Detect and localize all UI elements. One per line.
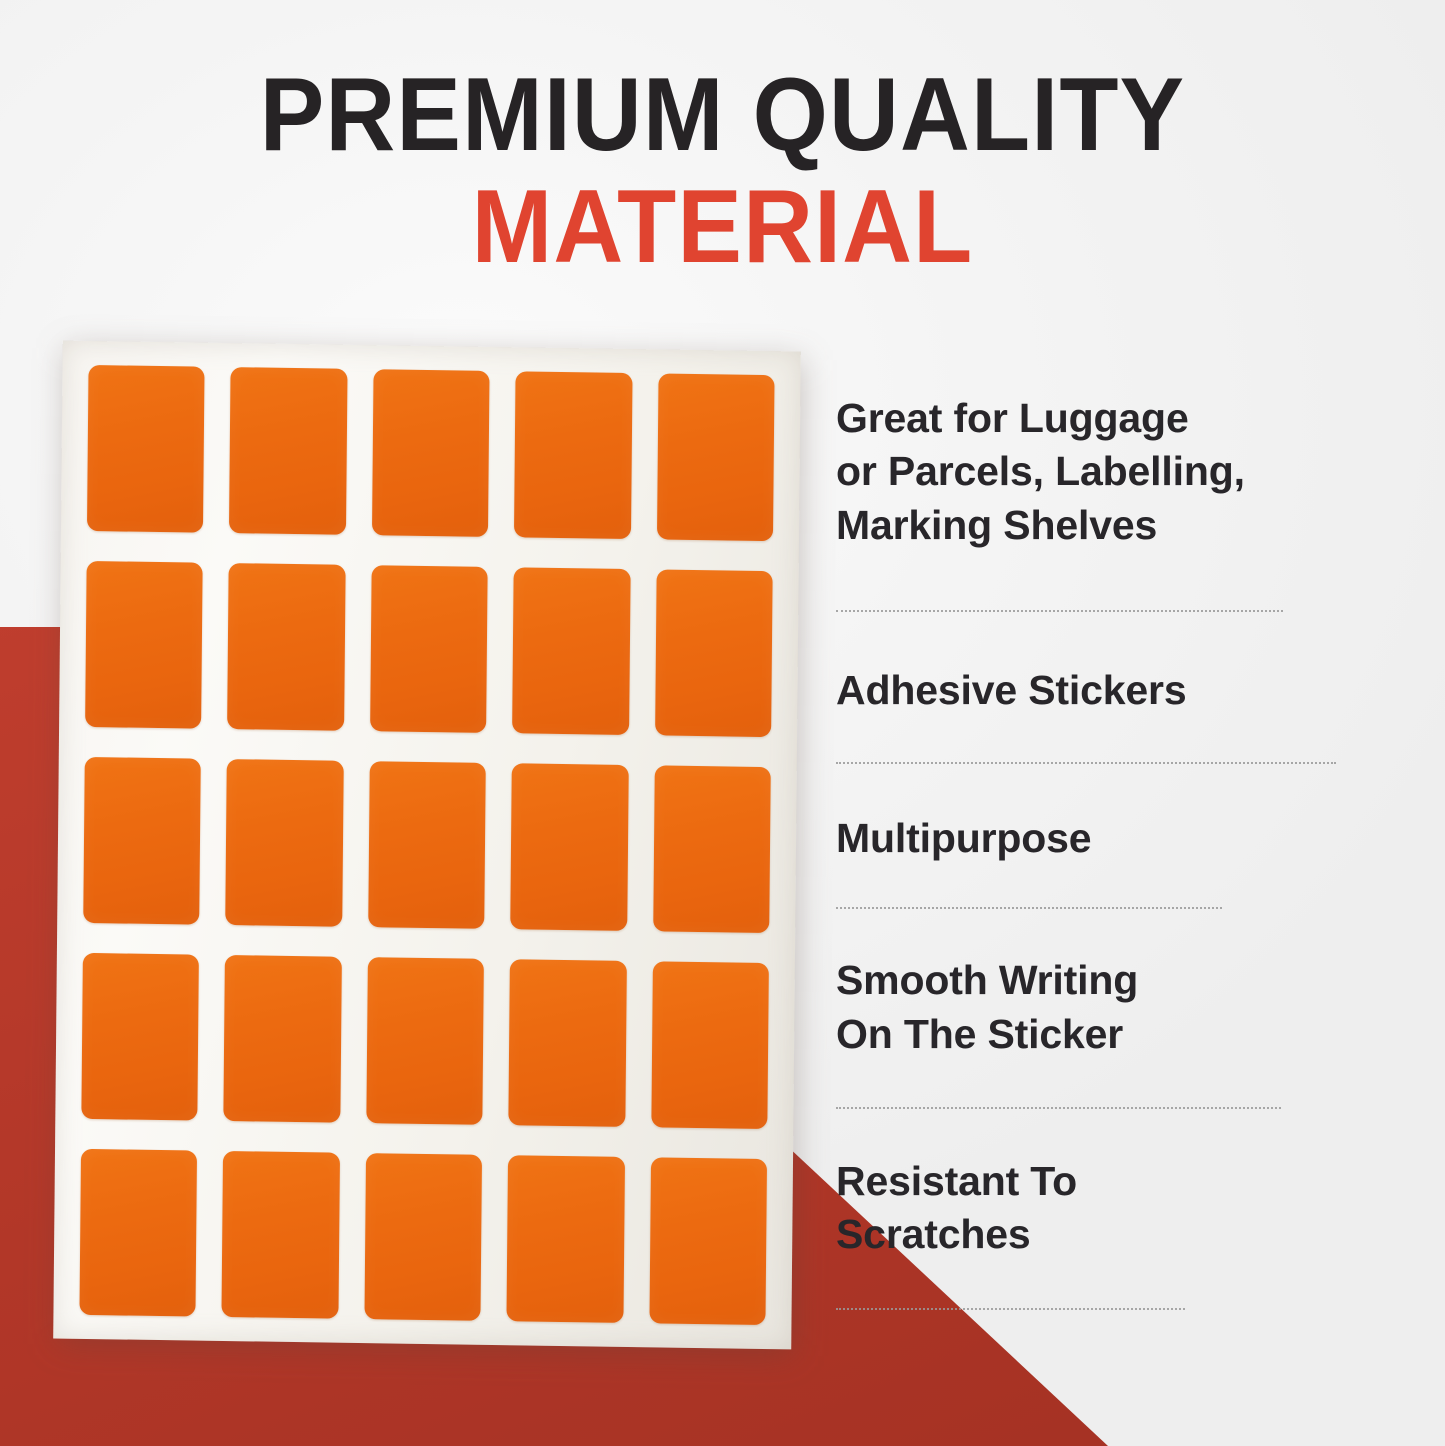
sticker-label	[229, 367, 347, 535]
sticker-label	[364, 1153, 482, 1321]
sticker-grid	[79, 365, 774, 1325]
feature-item: Adhesive Stickers	[836, 664, 1366, 764]
feature-label: Resistant To Scratches	[836, 1155, 1366, 1262]
sticker-label	[507, 1155, 625, 1323]
feature-label: Great for Luggage or Parcels, Labelling,…	[836, 392, 1366, 552]
sticker-label	[85, 561, 203, 729]
sticker-label	[79, 1149, 197, 1317]
sticker-label	[512, 567, 630, 735]
infographic-canvas: PREMIUM QUALITY MATERIAL	[0, 0, 1445, 1446]
feature-label: Adhesive Stickers	[836, 664, 1366, 717]
sticker-label	[372, 369, 490, 537]
feature-list: Great for Luggage or Parcels, Labelling,…	[836, 392, 1366, 1310]
sticker-label	[224, 955, 342, 1123]
sticker-label	[227, 563, 345, 731]
headline-primary: PREMIUM QUALITY	[51, 62, 1395, 168]
feature-divider	[836, 1107, 1281, 1109]
sticker-label	[226, 759, 344, 927]
sticker-label	[655, 569, 773, 737]
feature-item: Smooth Writing On The Sticker	[836, 954, 1366, 1109]
sticker-label	[81, 953, 199, 1121]
sticker-label	[368, 761, 486, 929]
feature-divider	[836, 610, 1283, 612]
sticker-label	[649, 1157, 767, 1325]
feature-divider	[836, 1308, 1185, 1310]
sticker-label	[510, 763, 628, 931]
feature-divider	[836, 907, 1222, 909]
sticker-label	[366, 957, 484, 1125]
sticker-label	[653, 765, 771, 933]
sticker-label	[651, 961, 769, 1129]
sticker-label	[222, 1151, 340, 1319]
sticker-backing-sheet	[53, 341, 801, 1350]
product-photo-label-sheet	[52, 340, 802, 1350]
sticker-label	[657, 373, 775, 541]
sticker-label	[83, 757, 201, 925]
sticker-label	[87, 365, 205, 533]
feature-label: Multipurpose	[836, 812, 1366, 865]
sticker-label	[370, 565, 488, 733]
feature-label: Smooth Writing On The Sticker	[836, 954, 1366, 1061]
feature-item: Great for Luggage or Parcels, Labelling,…	[836, 392, 1366, 612]
sticker-label	[509, 959, 627, 1127]
feature-divider	[836, 762, 1336, 764]
feature-item: Resistant To Scratches	[836, 1155, 1366, 1310]
page-title: PREMIUM QUALITY MATERIAL	[0, 62, 1445, 282]
feature-item: Multipurpose	[836, 812, 1366, 909]
sticker-label	[514, 371, 632, 539]
headline-accent: MATERIAL	[51, 172, 1395, 282]
